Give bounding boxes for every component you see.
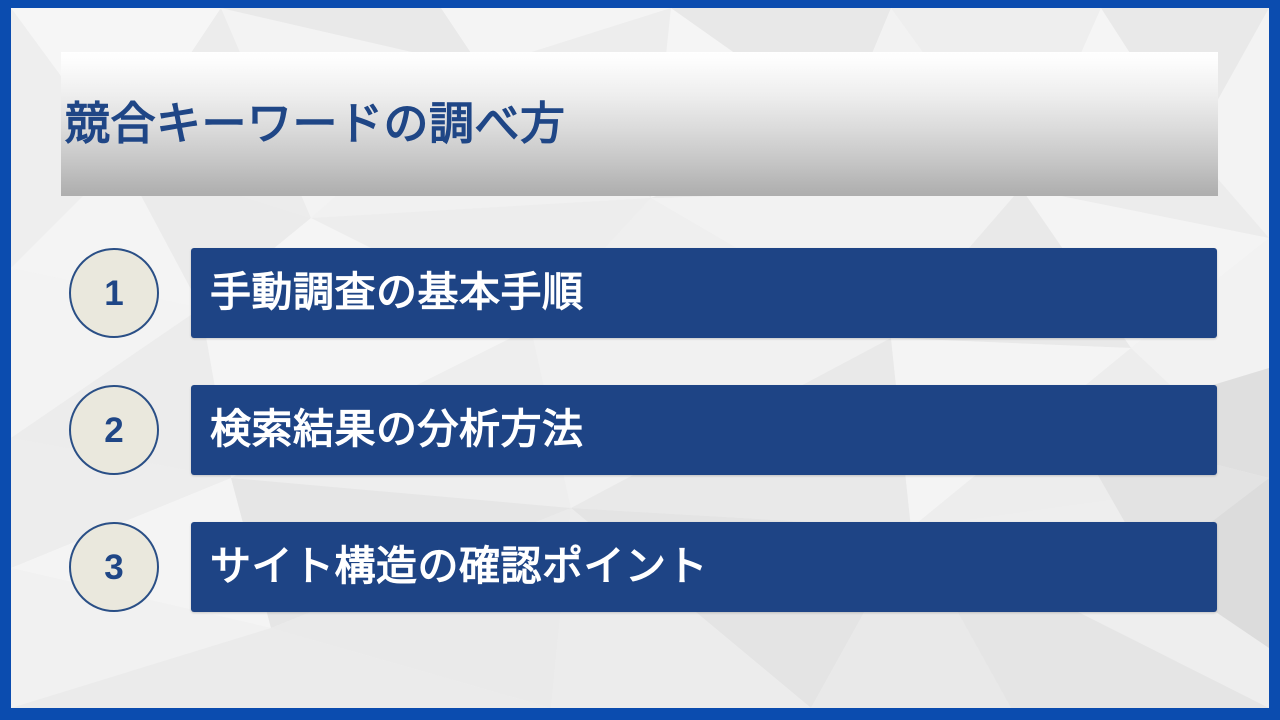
list-item[interactable]: 3 サイト構造の確認ポイント [11,522,1269,612]
agenda-bar[interactable]: 手動調査の基本手順 [191,248,1217,338]
step-number-badge: 3 [69,522,159,612]
agenda-label: 検索結果の分析方法 [210,407,584,452]
slide-frame: 競合キーワードの調べ方 1 手動調査の基本手順 2 検索結果の分析方法 [0,0,1280,720]
step-number: 1 [104,276,123,311]
page-title: 競合キーワードの調べ方 [65,99,566,149]
step-number-badge: 1 [69,248,159,338]
agenda-bar[interactable]: サイト構造の確認ポイント [191,522,1217,612]
agenda-bar[interactable]: 検索結果の分析方法 [191,385,1217,475]
agenda-label: サイト構造の確認ポイント [210,544,708,589]
slide-canvas: 競合キーワードの調べ方 1 手動調査の基本手順 2 検索結果の分析方法 [11,8,1269,708]
agenda-label: 手動調査の基本手順 [210,270,584,315]
list-item[interactable]: 1 手動調査の基本手順 [11,248,1269,338]
list-item[interactable]: 2 検索結果の分析方法 [11,385,1269,475]
agenda-list: 1 手動調査の基本手順 2 検索結果の分析方法 3 サイト構 [11,248,1269,612]
step-number-badge: 2 [69,385,159,475]
step-number: 3 [104,550,123,585]
slide-title-band: 競合キーワードの調べ方 [61,52,1218,196]
step-number: 2 [104,413,123,448]
